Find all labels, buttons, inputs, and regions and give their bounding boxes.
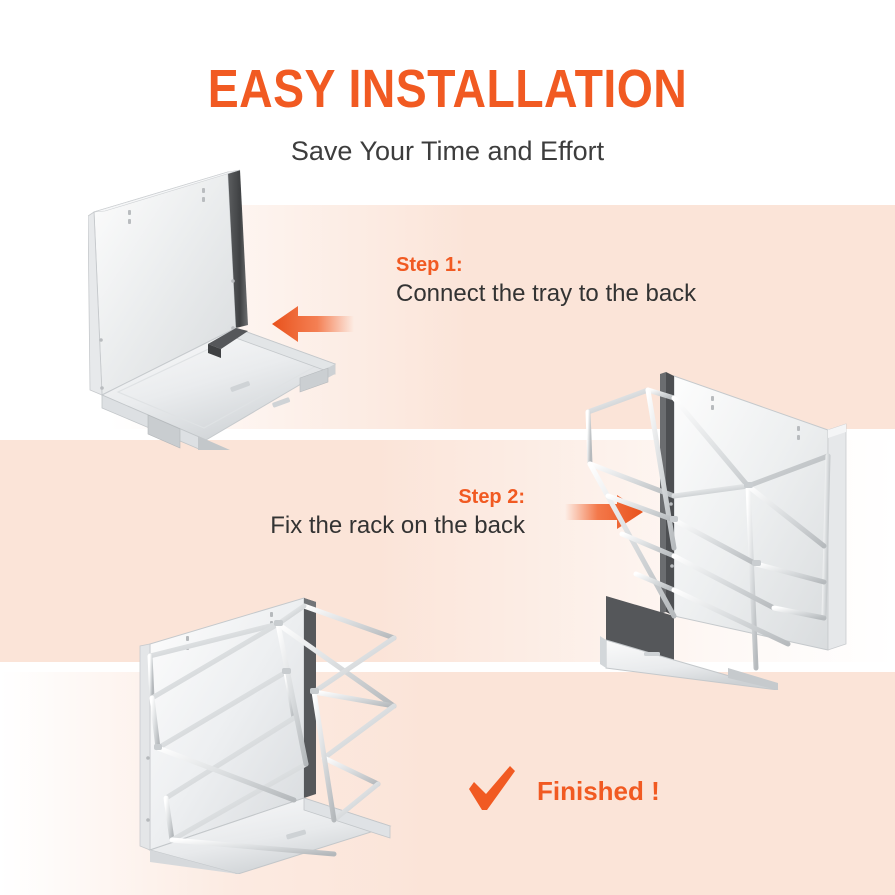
- product-image-finished: [128, 588, 414, 874]
- step-2-caption: Step 2: Fix the rack on the back: [243, 484, 525, 542]
- step-2-text: Fix the rack on the back: [243, 510, 525, 542]
- step-1-text: Connect the tray to the back: [396, 278, 696, 310]
- step-1-caption: Step 1: Connect the tray to the back: [396, 252, 696, 310]
- step-1-label: Step 1:: [396, 252, 696, 278]
- arrow-left-icon: [272, 303, 354, 350]
- step-2-label: Step 2:: [243, 484, 525, 510]
- product-image-step-2: [578, 368, 880, 690]
- page-subtitle: Save Your Time and Effort: [0, 135, 895, 167]
- infographic-canvas: EASY INSTALLATION Save Your Time and Eff…: [0, 0, 895, 895]
- finished-label: Finished !: [537, 776, 660, 807]
- finished-caption: Finished !: [467, 765, 660, 818]
- check-icon: [467, 765, 517, 818]
- page-title: EASY INSTALLATION: [63, 60, 833, 118]
